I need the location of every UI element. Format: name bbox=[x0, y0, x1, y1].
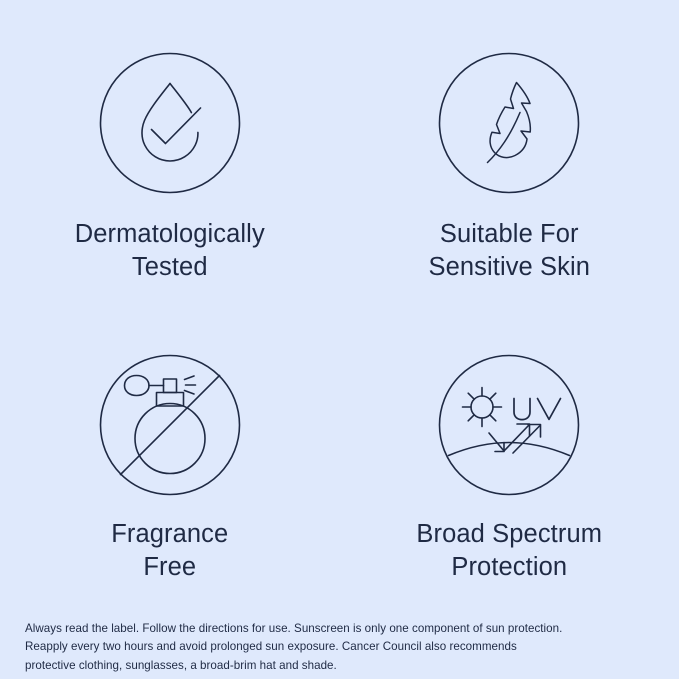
disclaimer-text: Always read the label. Follow the direct… bbox=[25, 620, 570, 676]
feature-sensitive-skin: Suitable For Sensitive Skin bbox=[340, 0, 679, 300]
droplet-check-icon bbox=[99, 52, 241, 194]
product-benefits-panel: Dermatologically Tested Suitable For Sen… bbox=[0, 0, 679, 679]
no-fragrance-bottle-icon bbox=[99, 354, 241, 496]
feature-label: Fragrance Free bbox=[111, 518, 228, 583]
feature-broad-spectrum-protection: Broad Spectrum Protection bbox=[340, 300, 679, 600]
uv-sun-shield-icon bbox=[438, 354, 580, 496]
feature-dermatologically-tested: Dermatologically Tested bbox=[0, 0, 340, 300]
feature-label: Suitable For Sensitive Skin bbox=[428, 218, 590, 283]
feature-fragrance-free: Fragrance Free bbox=[0, 300, 340, 600]
features-grid: Dermatologically Tested Suitable For Sen… bbox=[0, 0, 679, 600]
feather-icon bbox=[438, 52, 580, 194]
feature-label: Dermatologically Tested bbox=[75, 218, 265, 283]
feature-label: Broad Spectrum Protection bbox=[416, 518, 602, 583]
